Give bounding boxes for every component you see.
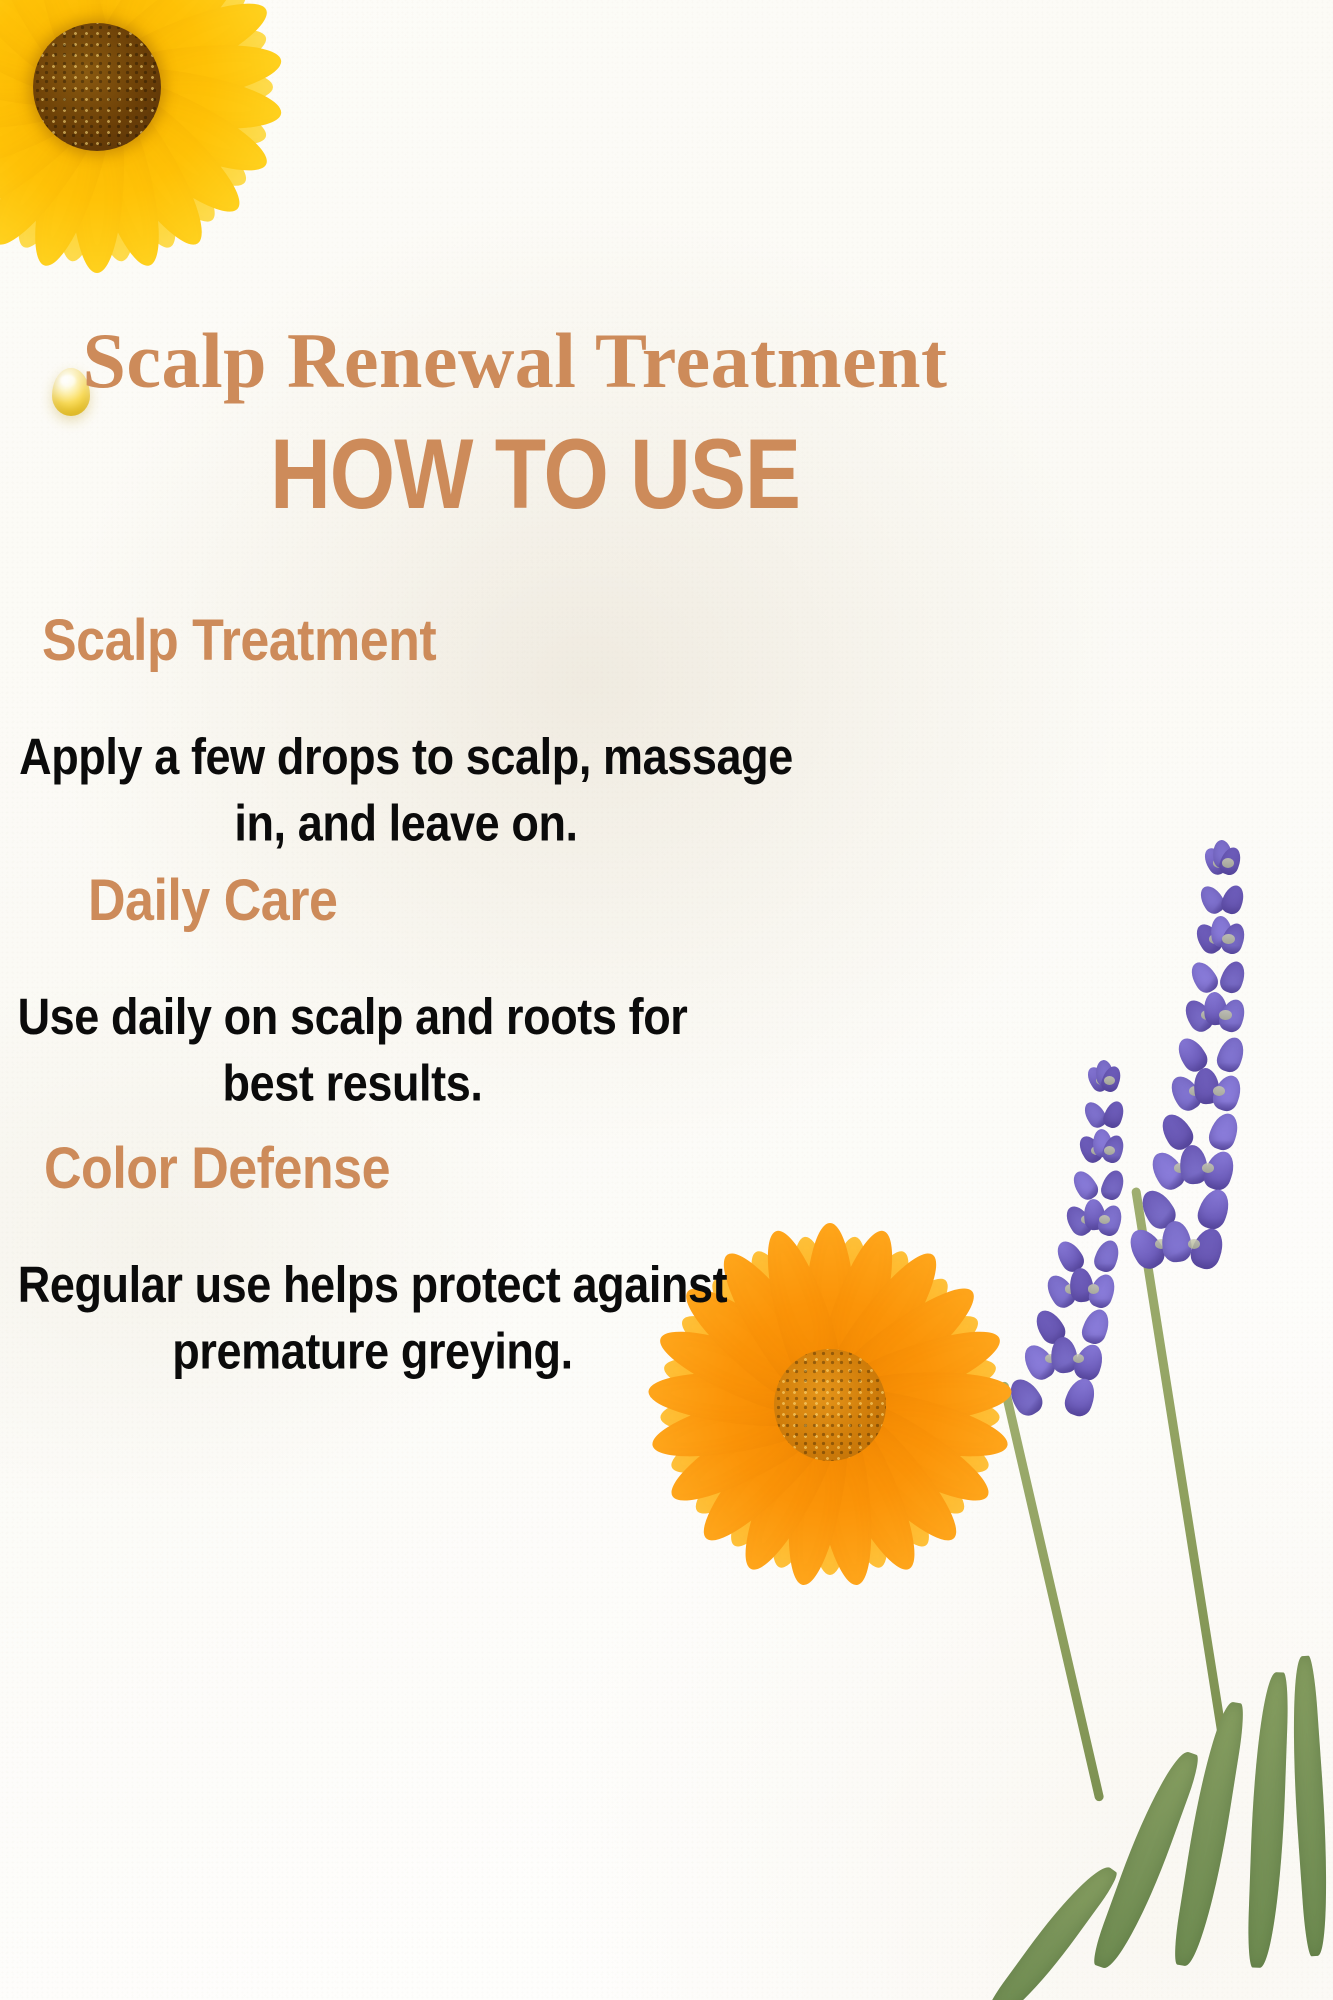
page-title: Scalp Renewal Treatment bbox=[0, 322, 1030, 400]
section-body: Apply a few drops to scalp, massage in, … bbox=[0, 724, 812, 855]
section-heading: Scalp Treatment bbox=[42, 612, 436, 670]
section-body: Use daily on scalp and roots for best re… bbox=[0, 984, 705, 1115]
section-body: Regular use helps protect against premat… bbox=[0, 1252, 745, 1383]
page-subtitle: HOW TO USE bbox=[0, 424, 1070, 523]
poster-content: Scalp Renewal Treatment HOW TO USE Scalp… bbox=[0, 0, 1333, 2000]
section-heading: Color Defense bbox=[44, 1140, 390, 1198]
section-heading: Daily Care bbox=[88, 872, 337, 930]
poster-canvas: Scalp Renewal Treatment HOW TO USE Scalp… bbox=[0, 0, 1333, 2000]
